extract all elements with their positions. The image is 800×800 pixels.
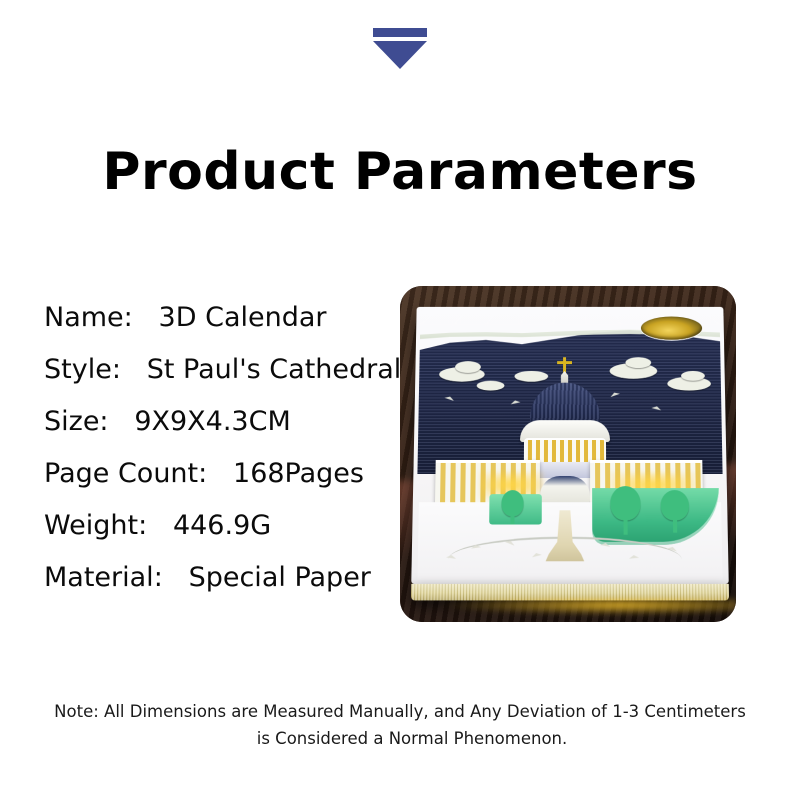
spec-value-page-count: 168Pages [233, 458, 364, 489]
under-pad-light-glow [441, 598, 736, 615]
tree-trunk [510, 510, 514, 524]
spec-label-material: Material: [44, 562, 163, 593]
spec-value-style: St Paul's Cathedral [147, 354, 402, 385]
calendar-front-page [411, 307, 728, 584]
tree-trunk [673, 516, 677, 532]
spec-value-name: 3D Calendar [159, 302, 327, 333]
cloud-icon [625, 357, 651, 368]
product-spec-list: Name: 3D Calendar Style: St Paul's Cathe… [44, 292, 404, 604]
spec-label-name: Name: [44, 302, 133, 333]
cloud-icon [455, 361, 481, 373]
lamp-hole [641, 317, 702, 340]
spec-label-page-count: Page Count: [44, 458, 207, 489]
product-photo [400, 286, 736, 622]
spec-label-weight: Weight: [44, 510, 147, 541]
spec-row-name: Name: 3D Calendar [44, 292, 404, 344]
spec-row-style: Style: St Paul's Cathedral [44, 344, 404, 396]
spec-row-weight: Weight: 446.9G [44, 500, 404, 552]
spec-value-weight: 446.9G [173, 510, 271, 541]
spec-row-page-count: Page Count: 168Pages [44, 448, 404, 500]
spec-row-material: Material: Special Paper [44, 552, 404, 604]
tree-icon [610, 486, 640, 520]
decorative-arrow-ornament [0, 28, 800, 80]
note-line-2: is Considered a Normal Phenomenon. [0, 725, 800, 752]
cloud-icon [514, 371, 548, 382]
cloud-icon [477, 381, 505, 391]
spec-row-size: Size: 9X9X4.3CM [44, 396, 404, 448]
tree-trunk [623, 516, 627, 534]
cloud-icon [681, 371, 705, 381]
spec-value-material: Special Paper [189, 562, 371, 593]
cathedral-portico [540, 476, 590, 502]
measurement-note: Note: All Dimensions are Measured Manual… [0, 698, 800, 752]
ornament-bar [373, 28, 427, 37]
spec-value-size: 9X9X4.3CM [134, 406, 290, 437]
paper-calendar-block [411, 307, 728, 584]
spec-label-size: Size: [44, 406, 109, 437]
spec-label-style: Style: [44, 354, 121, 385]
note-line-1: Note: All Dimensions are Measured Manual… [0, 698, 800, 725]
page-title: Product Parameters [0, 142, 800, 202]
ornament-triangle-down-icon [373, 41, 427, 69]
